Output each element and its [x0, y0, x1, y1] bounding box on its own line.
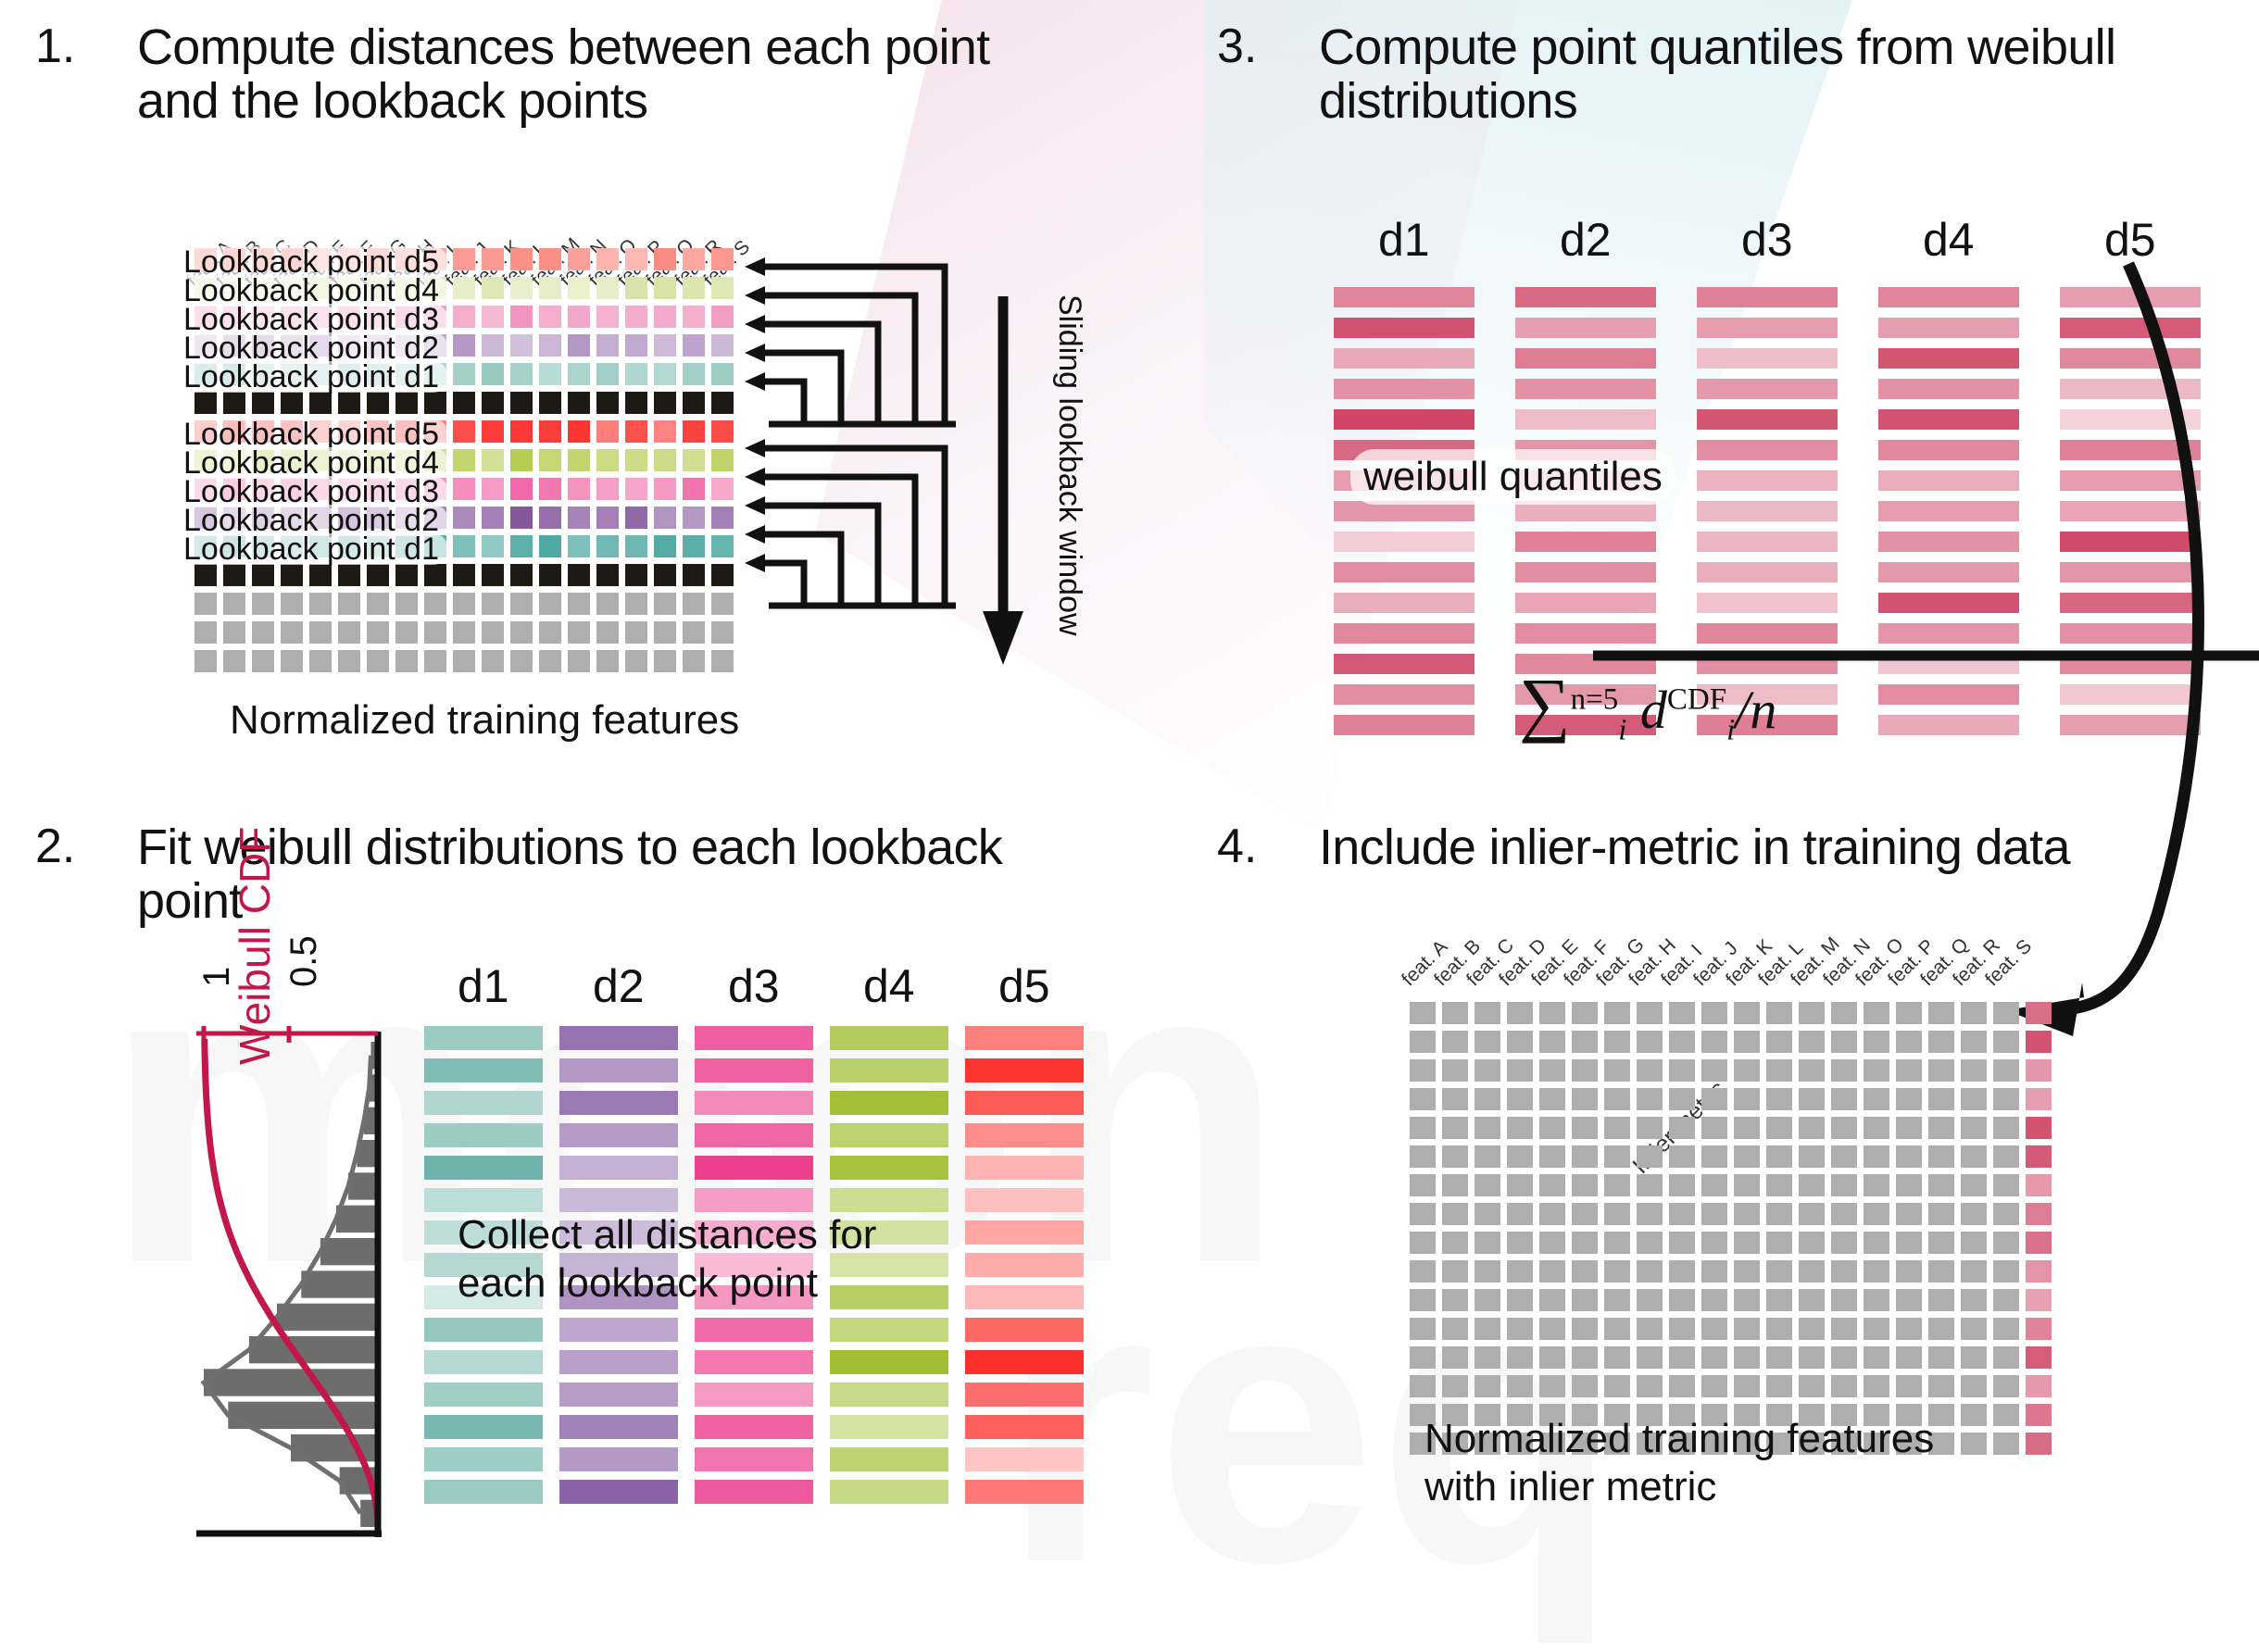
feature-cell — [1734, 1031, 1760, 1053]
distance-row — [424, 1350, 1100, 1374]
training-row — [1410, 1088, 2052, 1110]
grid-cell — [453, 593, 475, 615]
feature-cell — [1896, 1145, 1922, 1168]
feature-cell — [1669, 1289, 1695, 1311]
distance-row — [424, 1447, 1100, 1471]
quantile-cell — [1515, 318, 1656, 338]
reference-point-row — [195, 392, 740, 414]
feature-cell — [1572, 1088, 1598, 1110]
formula-tail: /n — [1735, 680, 1776, 740]
grid-cell — [453, 392, 475, 414]
inlier-metric-cell — [2026, 1433, 2052, 1455]
grid-cell — [510, 306, 533, 328]
feature-cell — [1928, 1346, 1954, 1369]
grid-cell — [568, 650, 590, 672]
unused-feature-row — [195, 593, 740, 615]
grid-cell — [568, 363, 590, 385]
grid-cell — [453, 535, 475, 557]
grid-cell — [195, 392, 217, 414]
feature-cell — [1799, 1289, 1825, 1311]
feature-cell — [1410, 1346, 1436, 1369]
feature-cell — [1410, 1031, 1436, 1053]
grid-cell — [683, 535, 705, 557]
grid-cell — [625, 621, 647, 644]
feature-cell — [1961, 1232, 1987, 1254]
grid-cell — [568, 420, 590, 443]
quantile-cell — [1697, 440, 1838, 460]
grid-cell — [539, 420, 561, 443]
lookback-column-label: d4 — [863, 959, 915, 1013]
grid-cell — [424, 621, 446, 644]
grid-cell — [568, 392, 590, 414]
grid-cell — [309, 650, 332, 672]
feature-cell — [1928, 1031, 1954, 1053]
feature-cell — [1928, 1088, 1954, 1110]
feature-cell — [1475, 1232, 1500, 1254]
distance-cell — [965, 1091, 1084, 1115]
grid-cell — [568, 564, 590, 586]
grid-cell — [453, 507, 475, 529]
feature-cell — [1410, 1232, 1436, 1254]
grid-cell — [654, 507, 676, 529]
distance-cell — [424, 1480, 543, 1504]
grid-cell — [395, 650, 418, 672]
feature-cell — [1539, 1289, 1565, 1311]
distance-cell — [559, 1318, 678, 1342]
feature-cell — [1475, 1031, 1500, 1053]
feature-cell — [1669, 1375, 1695, 1397]
feature-cell — [1734, 1059, 1760, 1082]
feature-cell — [1896, 1088, 1922, 1110]
grid-cell — [654, 277, 676, 299]
feature-cell — [1410, 1375, 1436, 1397]
training-row — [1410, 1289, 2052, 1311]
feature-cell — [1539, 1232, 1565, 1254]
grid-cell — [711, 621, 734, 644]
distance-cell — [424, 1156, 543, 1180]
grid-cell — [683, 449, 705, 471]
feature-cell — [1604, 1232, 1630, 1254]
distance-cell — [695, 1383, 813, 1407]
feature-cell — [1864, 1289, 1889, 1311]
distance-cell — [559, 1026, 678, 1050]
weibull-cdf-plot — [182, 1026, 395, 1545]
grid-cell — [625, 306, 647, 328]
grid-cell — [482, 306, 504, 328]
feature-cell — [1928, 1059, 1954, 1082]
grid-cell — [281, 392, 303, 414]
grid-cell — [453, 621, 475, 644]
grid-cell — [223, 593, 245, 615]
grid-cell — [568, 248, 590, 270]
feature-cell — [1961, 1088, 1987, 1110]
distance-cell — [559, 1156, 678, 1180]
feature-cell — [1993, 1289, 2019, 1311]
quantile-cell — [1697, 593, 1838, 613]
grid-cell — [654, 449, 676, 471]
feature-cell — [1604, 1031, 1630, 1053]
distance-cell — [559, 1058, 678, 1083]
quantile-cell — [1697, 348, 1838, 369]
feature-cell — [1442, 1203, 1468, 1225]
feature-cell — [1669, 1145, 1695, 1168]
feature-cell — [1572, 1117, 1598, 1139]
grid-cell — [568, 449, 590, 471]
feature-cell — [1961, 1404, 1987, 1426]
feature-cell — [1507, 1117, 1533, 1139]
feature-cell — [1734, 1260, 1760, 1283]
grid-cell — [654, 478, 676, 500]
grid-cell — [568, 306, 590, 328]
feature-cell — [1896, 1346, 1922, 1369]
grid-cell — [281, 564, 303, 586]
feature-cell — [1507, 1031, 1533, 1053]
feature-cell — [1475, 1375, 1500, 1397]
distance-row — [424, 1123, 1100, 1147]
feature-cell — [1669, 1203, 1695, 1225]
distance-cell — [424, 1123, 543, 1147]
inlier-metric-cell — [2026, 1059, 2052, 1082]
feature-cell — [1864, 1318, 1889, 1340]
grid-cell — [453, 449, 475, 471]
feature-cell — [1701, 1203, 1727, 1225]
feature-cell — [1669, 1117, 1695, 1139]
quantile-column-label: d2 — [1560, 213, 1612, 267]
distance-cell — [830, 1123, 948, 1147]
feature-cell — [1604, 1059, 1630, 1082]
grid-cell — [252, 564, 274, 586]
feature-cell — [1701, 1375, 1727, 1397]
feature-cell — [1507, 1059, 1533, 1082]
feature-cell — [1961, 1145, 1987, 1168]
feature-cell — [1766, 1145, 1792, 1168]
unused-feature-row — [195, 650, 740, 672]
grid-cell — [596, 363, 619, 385]
feature-cell — [1442, 1318, 1468, 1340]
feature-cell — [1864, 1002, 1889, 1024]
quantile-cell — [1697, 287, 1838, 307]
grid-cell — [568, 478, 590, 500]
feature-cell — [1928, 1174, 1954, 1196]
feature-cell — [1993, 1174, 2019, 1196]
grid-cell — [223, 650, 245, 672]
grid-cell — [510, 420, 533, 443]
grid-cell — [711, 478, 734, 500]
feature-cell — [1928, 1117, 1954, 1139]
distance-cell — [830, 1026, 948, 1050]
distance-cell — [830, 1058, 948, 1083]
feature-cell — [1442, 1375, 1468, 1397]
training-row — [1410, 1059, 2052, 1082]
grid-cell — [338, 564, 360, 586]
weibull-axis-tick-0point5: 0.5 — [283, 935, 325, 987]
feature-cell — [1475, 1174, 1500, 1196]
feature-cell — [1637, 1346, 1663, 1369]
feature-cell — [1831, 1002, 1857, 1024]
grid-cell — [252, 593, 274, 615]
feature-cell — [1637, 1117, 1663, 1139]
grid-cell — [510, 593, 533, 615]
feature-cell — [1539, 1203, 1565, 1225]
quantile-cell — [1697, 318, 1838, 338]
feature-cell — [1896, 1318, 1922, 1340]
grid-cell — [510, 248, 533, 270]
training-row — [1410, 1346, 2052, 1369]
feature-cell — [1766, 1203, 1792, 1225]
grid-cell — [683, 363, 705, 385]
quantile-column-label: d3 — [1741, 213, 1793, 267]
feature-cell — [1539, 1002, 1565, 1024]
distance-cell — [965, 1480, 1084, 1504]
grid-cell — [568, 507, 590, 529]
grid-cell — [596, 564, 619, 586]
grid-cell — [195, 593, 217, 615]
quantile-cell — [1334, 318, 1475, 338]
grid-cell — [654, 420, 676, 443]
feature-cell — [1637, 1174, 1663, 1196]
distance-cell — [559, 1480, 678, 1504]
grid-cell — [654, 363, 676, 385]
feature-cell — [1993, 1059, 2019, 1082]
feature-cell — [1410, 1117, 1436, 1139]
grid-cell — [309, 564, 332, 586]
training-row — [1410, 1002, 2052, 1024]
grid-cell — [596, 306, 619, 328]
panel-1-lookback-arrows-upper — [741, 252, 991, 428]
lookback-column-label: d3 — [728, 959, 780, 1013]
feature-cell — [1864, 1232, 1889, 1254]
feature-cell — [1799, 1174, 1825, 1196]
grid-cell — [654, 564, 676, 586]
grid-cell — [338, 593, 360, 615]
grid-cell — [424, 392, 446, 414]
feature-cell — [1864, 1346, 1889, 1369]
feature-cell — [1669, 1346, 1695, 1369]
formula-upper-limit: n=5 — [1571, 683, 1619, 717]
distance-cell — [559, 1447, 678, 1471]
feature-cell — [1637, 1145, 1663, 1168]
grid-cell — [539, 564, 561, 586]
feature-cell — [1896, 1232, 1922, 1254]
feature-cell — [1669, 1174, 1695, 1196]
feature-cell — [1896, 1260, 1922, 1283]
distance-cell — [424, 1383, 543, 1407]
distance-cell — [424, 1058, 543, 1083]
feature-cell — [1896, 1375, 1922, 1397]
quantile-cell — [1515, 562, 1656, 582]
grid-cell — [683, 392, 705, 414]
feature-cell — [1539, 1174, 1565, 1196]
grid-cell — [453, 248, 475, 270]
panel-2-fit-weibull: 2. Fit weibull distributions to each loo… — [0, 796, 1139, 1571]
feature-cell — [1799, 1145, 1825, 1168]
feature-cell — [1766, 1117, 1792, 1139]
quantile-column-label: d5 — [2104, 213, 2156, 267]
grid-cell — [367, 593, 389, 615]
feature-cell — [1442, 1145, 1468, 1168]
feature-cell — [1766, 1318, 1792, 1340]
feature-cell — [1572, 1318, 1598, 1340]
feature-cell — [1604, 1088, 1630, 1110]
grid-cell — [453, 277, 475, 299]
feature-cell — [1961, 1203, 1987, 1225]
feature-cell — [1831, 1117, 1857, 1139]
distance-cell — [695, 1123, 813, 1147]
distance-cell — [965, 1058, 1084, 1083]
distance-cell — [830, 1415, 948, 1439]
panel-1-number: 1. — [35, 22, 75, 70]
feature-cell — [1928, 1145, 1954, 1168]
quantile-cell — [1334, 348, 1475, 369]
feature-cell — [1928, 1375, 1954, 1397]
quantile-cell — [1515, 409, 1656, 430]
grid-cell — [625, 392, 647, 414]
feature-cell — [1734, 1117, 1760, 1139]
distance-row — [424, 1383, 1100, 1407]
feature-cell — [1572, 1203, 1598, 1225]
quantile-cell — [1334, 409, 1475, 430]
distance-row — [424, 1415, 1100, 1439]
distance-cell — [965, 1415, 1084, 1439]
feature-cell — [1864, 1375, 1889, 1397]
feature-cell — [1442, 1117, 1468, 1139]
feature-cell — [1637, 1232, 1663, 1254]
feature-cell — [1831, 1031, 1857, 1053]
feature-cell — [1993, 1375, 2019, 1397]
distance-row — [424, 1480, 1100, 1504]
feature-cell — [1864, 1260, 1889, 1283]
feature-cell — [1604, 1117, 1630, 1139]
inlier-metric-cell — [2026, 1318, 2052, 1340]
distance-cell — [424, 1318, 543, 1342]
distance-cell — [965, 1350, 1084, 1374]
grid-cell — [338, 650, 360, 672]
feature-cell — [1799, 1232, 1825, 1254]
quantile-cell — [1697, 470, 1838, 491]
grid-cell — [453, 420, 475, 443]
feature-cell — [1701, 1031, 1727, 1053]
grid-cell — [683, 650, 705, 672]
feature-cell — [1604, 1289, 1630, 1311]
feature-cell — [1572, 1232, 1598, 1254]
grid-cell — [596, 277, 619, 299]
inlier-metric-cell — [2026, 1174, 2052, 1196]
grid-cell — [453, 564, 475, 586]
quantile-cell — [1515, 379, 1656, 399]
feature-cell — [1993, 1203, 2019, 1225]
feature-cell — [1507, 1174, 1533, 1196]
feature-cell — [1896, 1289, 1922, 1311]
distance-cell — [559, 1383, 678, 1407]
grid-cell — [309, 392, 332, 414]
feature-cell — [1701, 1002, 1727, 1024]
feature-cell — [1701, 1145, 1727, 1168]
feature-cell — [1475, 1260, 1500, 1283]
quantile-cell — [1515, 593, 1656, 613]
grid-cell — [223, 621, 245, 644]
grid-cell — [625, 564, 647, 586]
feature-cell — [1734, 1318, 1760, 1340]
feature-cell — [1507, 1318, 1533, 1340]
distance-cell — [965, 1026, 1084, 1050]
grid-cell — [510, 621, 533, 644]
feature-cell — [1637, 1002, 1663, 1024]
grid-cell — [252, 392, 274, 414]
feature-cell — [1475, 1145, 1500, 1168]
feature-cell — [1572, 1375, 1598, 1397]
feature-cell — [1701, 1289, 1727, 1311]
feature-cell — [1701, 1260, 1727, 1283]
unused-feature-row — [195, 621, 740, 644]
grid-cell — [683, 334, 705, 357]
feature-cell — [1507, 1145, 1533, 1168]
feature-cell — [1669, 1232, 1695, 1254]
grid-cell — [596, 535, 619, 557]
grid-cell — [683, 277, 705, 299]
histogram-bar — [204, 1369, 378, 1395]
panel-1-caption: Normalized training features — [230, 696, 739, 745]
feature-cell — [1896, 1002, 1922, 1024]
feature-cell — [1799, 1031, 1825, 1053]
panel-1-compute-distances: 1. Compute distances between each point … — [0, 0, 1139, 778]
grid-cell — [510, 277, 533, 299]
grid-cell — [683, 621, 705, 644]
feature-cell — [1442, 1260, 1468, 1283]
feature-cell — [1993, 1318, 2019, 1340]
grid-cell — [195, 621, 217, 644]
feature-cell — [1831, 1088, 1857, 1110]
feature-cell — [1734, 1203, 1760, 1225]
feature-cell — [1604, 1346, 1630, 1369]
grid-cell — [539, 650, 561, 672]
feature-cell — [1442, 1002, 1468, 1024]
feature-cell — [1766, 1260, 1792, 1283]
quantile-cell — [1334, 532, 1475, 552]
feature-cell — [1799, 1059, 1825, 1082]
quantile-cell — [1334, 654, 1475, 674]
distance-cell — [424, 1415, 543, 1439]
quantile-cell — [1334, 684, 1475, 705]
feature-cell — [1572, 1002, 1598, 1024]
grid-cell — [683, 306, 705, 328]
grid-cell — [223, 564, 245, 586]
grid-cell — [539, 478, 561, 500]
grid-cell — [683, 420, 705, 443]
feature-cell — [1572, 1260, 1598, 1283]
grid-cell — [683, 478, 705, 500]
grid-cell — [424, 564, 446, 586]
feature-cell — [1475, 1318, 1500, 1340]
feature-cell — [1669, 1260, 1695, 1283]
feature-cell — [1864, 1203, 1889, 1225]
formula-sigma: ∑ — [1519, 663, 1571, 744]
grid-cell — [596, 392, 619, 414]
grid-cell — [596, 478, 619, 500]
feature-cell — [1993, 1346, 2019, 1369]
distance-cell — [695, 1156, 813, 1180]
quantile-cell — [1515, 348, 1656, 369]
feature-cell — [1864, 1174, 1889, 1196]
feature-cell — [1572, 1059, 1598, 1082]
feature-cell — [1507, 1203, 1533, 1225]
grid-cell — [539, 277, 561, 299]
grid-cell — [654, 535, 676, 557]
feature-cell — [1669, 1318, 1695, 1340]
distance-cell — [424, 1188, 543, 1212]
grid-cell — [711, 363, 734, 385]
grid-cell — [539, 621, 561, 644]
feature-cell — [1864, 1088, 1889, 1110]
